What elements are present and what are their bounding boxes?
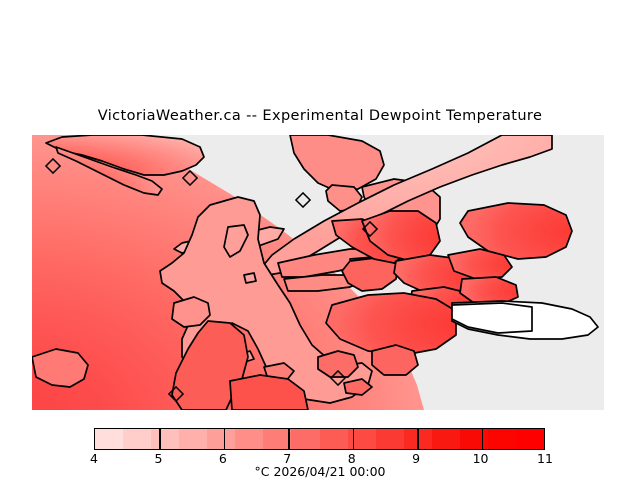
land-south-islet-b[interactable] — [372, 345, 418, 375]
colorbar-tick — [353, 429, 355, 450]
land-central-pond[interactable] — [244, 273, 256, 283]
colorbar-tick — [159, 429, 161, 450]
colorbar-segment — [320, 429, 349, 449]
colorbar-segment — [95, 429, 124, 449]
colorbar-tick — [288, 429, 290, 450]
weather-map-page: VictoriaWeather.ca -- Experimental Dewpo… — [0, 0, 640, 480]
land-south-islet-a[interactable] — [318, 351, 358, 377]
colorbar-tick — [224, 429, 226, 450]
colorbar-segment — [291, 429, 320, 449]
colorbar-caption: °C 2026/04/21 00:00 — [0, 464, 640, 479]
map-canvas[interactable] — [32, 135, 604, 410]
colorbar-segment — [179, 429, 208, 449]
colorbar-segment — [207, 429, 236, 449]
colorbar — [94, 428, 545, 450]
map-svg — [32, 135, 604, 410]
colorbar-segment — [432, 429, 461, 449]
colorbar-segment — [235, 429, 264, 449]
colorbar-tick — [417, 429, 419, 450]
colorbar-segment — [460, 429, 489, 449]
colorbar-gradient — [95, 429, 544, 449]
colorbar-segment — [376, 429, 405, 449]
colorbar-segment — [516, 429, 545, 449]
page-title: VictoriaWeather.ca -- Experimental Dewpo… — [0, 108, 640, 124]
colorbar-box — [94, 428, 545, 450]
colorbar-tick — [482, 429, 484, 450]
colorbar-segment — [151, 429, 180, 449]
colorbar-segment — [488, 429, 517, 449]
colorbar-segment — [123, 429, 152, 449]
